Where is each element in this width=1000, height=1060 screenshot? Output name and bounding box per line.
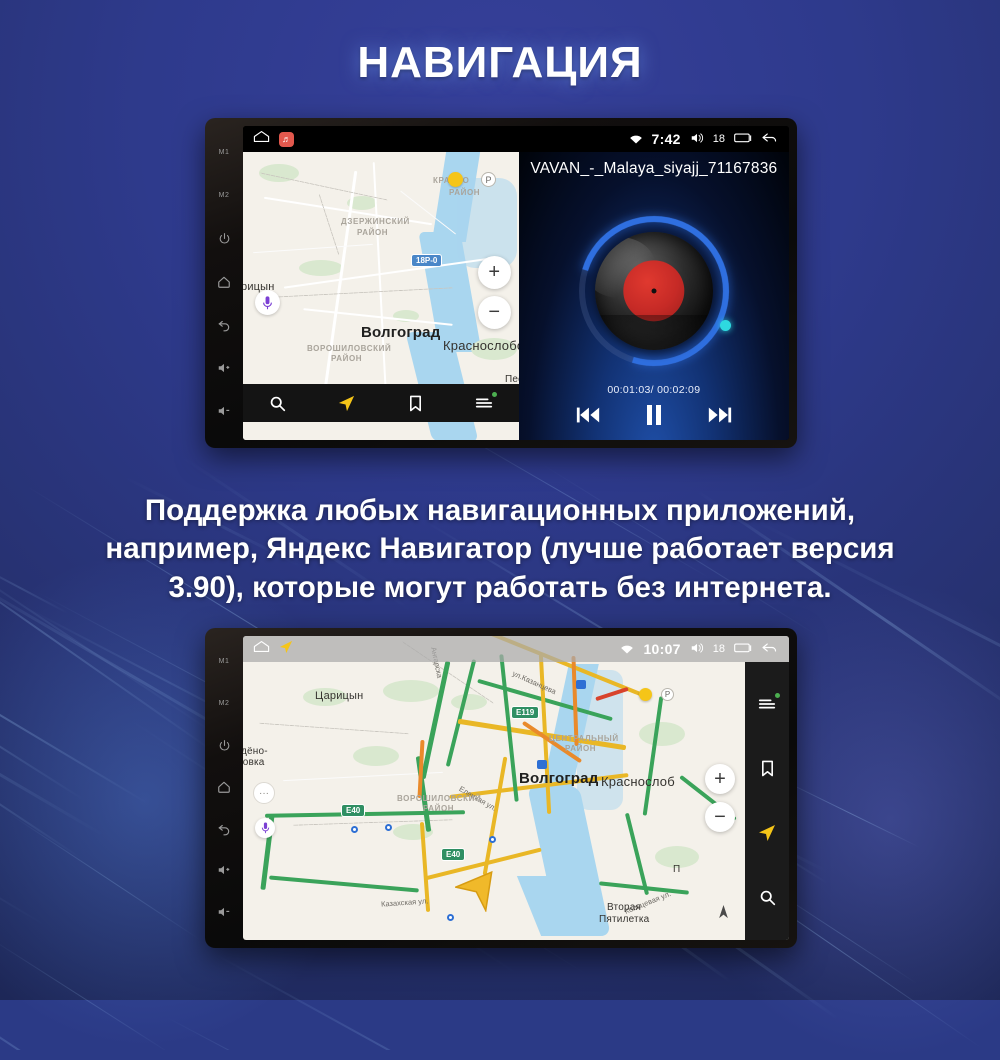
volume-down-key[interactable]	[205, 391, 243, 432]
volume-icon[interactable]	[690, 642, 704, 657]
volume-level: 18	[713, 133, 725, 145]
volume-icon[interactable]	[690, 132, 704, 147]
caption-line: Поддержка любых навигационных приложений…	[50, 492, 950, 530]
road-badge: E40	[341, 804, 365, 817]
park	[353, 746, 399, 766]
map-waypoint	[447, 914, 454, 921]
left-bezel-keys-top: M1 M2	[205, 126, 243, 440]
map-label: дёно-	[243, 746, 268, 757]
traffic-road	[625, 813, 649, 895]
wifi-key[interactable]: M2	[205, 684, 243, 724]
map-label: Волгоград	[361, 324, 440, 341]
map-label: Краснослоб	[601, 774, 675, 789]
zoom-in-button[interactable]: +	[478, 256, 511, 289]
caption-text: Поддержка любых навигационных приложений…	[50, 492, 950, 607]
parking-icon[interactable]: P	[481, 172, 496, 187]
map-label: РАЙОН	[423, 804, 454, 813]
map-label: РАЙОН	[331, 354, 362, 363]
zoom-in-button[interactable]: +	[705, 764, 735, 794]
navigator-sidebar	[745, 662, 789, 940]
map-label: новка	[243, 757, 265, 768]
navigator-app-icon[interactable]	[279, 640, 293, 659]
poi-marker[interactable]	[448, 172, 463, 187]
wifi-key[interactable]: M2	[205, 175, 243, 216]
map-label: РАЙОН	[565, 744, 596, 753]
map-waypoint	[489, 836, 496, 843]
poi-marker[interactable]	[639, 688, 652, 701]
back-key[interactable]	[205, 809, 243, 849]
zoom-out-button[interactable]: −	[478, 296, 511, 329]
track-title: VAVAN_-_Malaya_siyajj_71167836	[519, 160, 789, 178]
power-key[interactable]	[205, 725, 243, 765]
progress-knob[interactable]	[720, 320, 731, 331]
metro-icon	[576, 680, 586, 689]
road-badge: 18Р-0	[411, 254, 442, 267]
compass-icon[interactable]	[718, 905, 729, 924]
map-label: Царицын	[315, 690, 363, 702]
map-label: ВОРОШИЛОВСКИЙ	[307, 344, 391, 353]
volume-level: 18	[713, 643, 725, 655]
recents-icon[interactable]	[734, 641, 752, 657]
music-app-icon[interactable]: ♬	[279, 132, 294, 147]
park	[299, 260, 343, 276]
map-pane-top[interactable]: КРАСНО РАЙОН ДЗЕРЖИНСКИЙ РАЙОН рицын Вол…	[243, 152, 519, 440]
street-label: Казахская ул.	[381, 896, 429, 908]
park	[383, 680, 439, 702]
map-label: РАЙОН	[449, 188, 480, 197]
map-label: П	[673, 864, 680, 875]
zoom-out-button[interactable]: −	[705, 802, 735, 832]
road-badge: E119	[511, 706, 539, 719]
home-icon[interactable]	[253, 640, 270, 658]
path	[273, 287, 453, 297]
page-title: НАВИГАЦИЯ	[0, 38, 1000, 88]
music-player-pane[interactable]: VAVAN_-_Malaya_siyajj_71167836 00:01:03/…	[519, 152, 789, 440]
head-unit-bottom: M1 M2	[205, 628, 797, 948]
menu-icon[interactable]	[463, 384, 505, 422]
voice-search-button[interactable]	[255, 818, 275, 838]
power-key[interactable]	[205, 218, 243, 259]
screen-top[interactable]: ♬ 7:42 18	[243, 126, 789, 440]
map-label: РАЙОН	[357, 228, 388, 237]
status-clock: 10:07	[643, 641, 680, 657]
map-label: Пятилетка	[599, 914, 649, 925]
notification-dot	[775, 693, 780, 698]
home-key[interactable]	[205, 261, 243, 302]
map-waypoint	[385, 824, 392, 831]
traffic-road	[269, 875, 419, 892]
mute-key[interactable]: M1	[205, 642, 243, 682]
volume-up-key[interactable]	[205, 851, 243, 891]
home-icon[interactable]	[253, 130, 270, 148]
vinyl-disc	[595, 232, 713, 350]
park	[639, 722, 685, 746]
map-label: Волгоград	[519, 770, 598, 787]
screen-bottom[interactable]: E119 E40 E40 Ангарска ул.Казанцева Елецк…	[243, 636, 789, 940]
navigate-arrow-icon[interactable]	[325, 384, 367, 422]
head-unit-top: M1 M2 ♬	[205, 118, 797, 448]
parking-icon[interactable]: P	[661, 688, 674, 701]
vinyl-hole	[651, 289, 656, 294]
volume-up-key[interactable]	[205, 348, 243, 389]
album-art-vinyl[interactable]	[579, 216, 729, 366]
menu-icon[interactable]	[745, 685, 789, 723]
map-label: ДЗЕРЖИНСКИЙ	[341, 217, 410, 226]
back-icon[interactable]	[761, 641, 779, 657]
split-screen-top: КРАСНО РАЙОН ДЗЕРЖИНСКИЙ РАЙОН рицын Вол…	[243, 152, 789, 440]
navigate-arrow-icon[interactable]	[745, 814, 789, 852]
map-label: ЦЕНТРАЛЬНЫЙ	[549, 734, 619, 743]
voice-search-button[interactable]	[255, 290, 280, 315]
back-key[interactable]	[205, 305, 243, 346]
mute-key[interactable]: M1	[205, 132, 243, 173]
caption-line: например, Яндекс Навигатор (лучше работа…	[50, 530, 950, 568]
wifi-icon	[629, 132, 643, 147]
road-badge: E40	[441, 848, 465, 861]
previous-track-button[interactable]	[575, 406, 601, 424]
path	[259, 723, 409, 734]
map-waypoint	[351, 826, 358, 833]
map-label: ВОРОШИЛОВСКИЙ	[397, 794, 481, 803]
traffic-road	[643, 696, 664, 815]
search-icon[interactable]	[745, 879, 789, 917]
next-track-button[interactable]	[707, 406, 733, 424]
road	[253, 244, 373, 254]
status-clock: 7:42	[652, 131, 681, 147]
status-bar-top: ♬ 7:42 18	[243, 126, 789, 152]
map-label: Краснослобод	[443, 338, 519, 353]
playback-time: 00:01:03/ 00:02:09	[519, 384, 789, 396]
caption-line: 3.90), которые могут работать без интерн…	[50, 569, 950, 607]
left-bezel-keys-bottom: M1 M2	[205, 636, 243, 940]
metro-icon	[537, 760, 547, 769]
pause-button[interactable]	[645, 404, 663, 426]
map-toolbar-top	[243, 384, 519, 422]
volume-down-key[interactable]	[205, 892, 243, 932]
status-bar-bottom: 10:07 18	[243, 636, 789, 662]
map-label: Вторая	[607, 902, 641, 913]
back-icon[interactable]	[761, 131, 779, 147]
chat-bubble-icon[interactable]: ···	[253, 782, 275, 804]
transport-controls	[519, 404, 789, 426]
bookmark-icon[interactable]	[745, 750, 789, 788]
path	[260, 172, 387, 200]
wifi-icon	[620, 642, 634, 657]
notification-dot	[492, 392, 497, 397]
bookmark-icon[interactable]	[394, 384, 436, 422]
current-position-arrow	[455, 862, 505, 917]
search-icon[interactable]	[256, 384, 298, 422]
home-key[interactable]	[205, 767, 243, 807]
recents-icon[interactable]	[734, 131, 752, 147]
navigator-map[interactable]: E119 E40 E40 Ангарска ул.Казанцева Елецк…	[243, 636, 789, 940]
